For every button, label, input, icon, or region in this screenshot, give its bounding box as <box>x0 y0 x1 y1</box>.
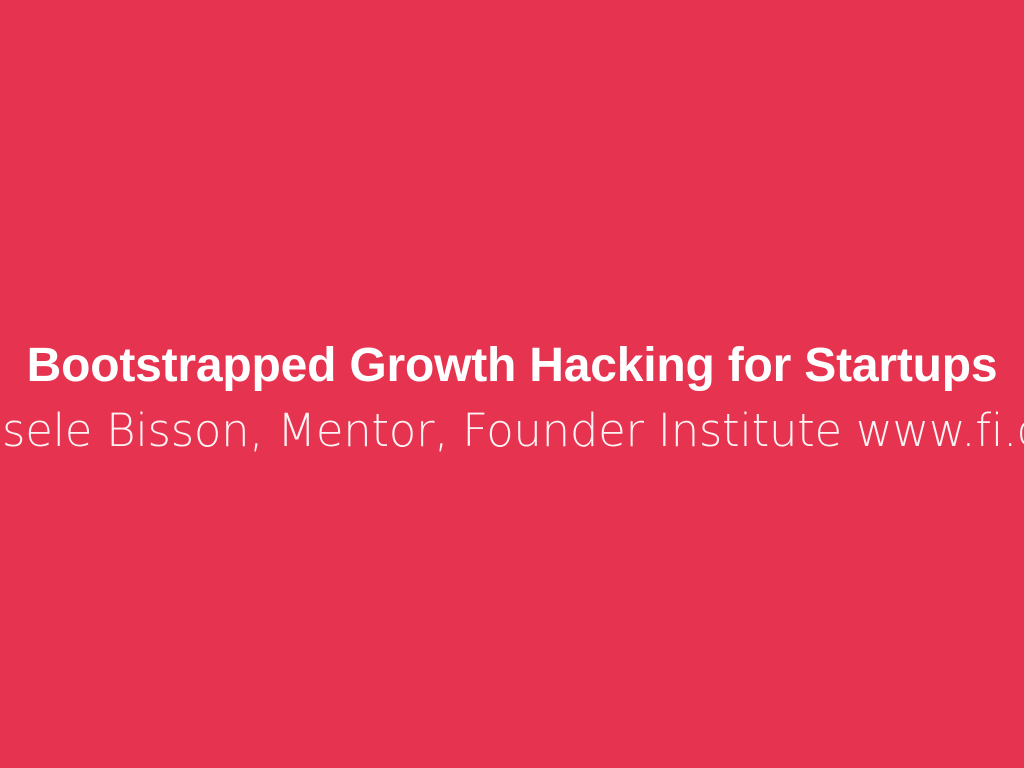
slide-subtitle: Gisele Bisson, Mentor, Founder Institute… <box>0 402 1024 460</box>
presentation-slide: Bootstrapped Growth Hacking for Startups… <box>0 0 1024 768</box>
slide-title: Bootstrapped Growth Hacking for Startups <box>27 338 998 394</box>
slide-text-block: Bootstrapped Growth Hacking for Startups… <box>0 338 1024 460</box>
